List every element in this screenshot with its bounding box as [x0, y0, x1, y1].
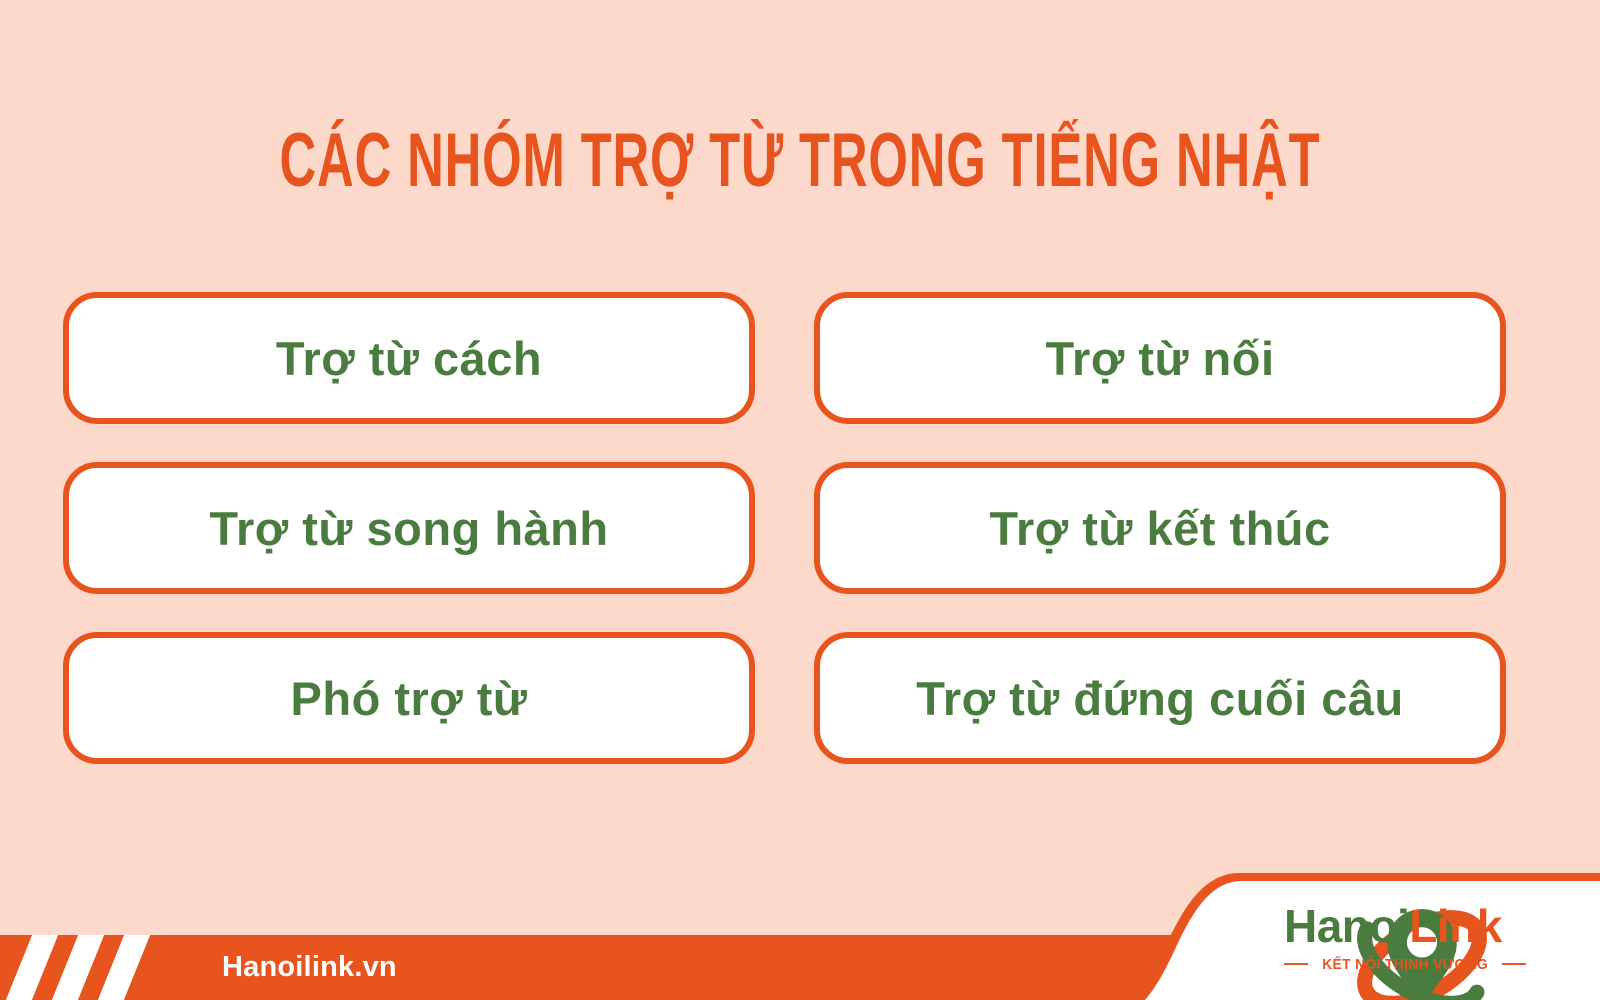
card-label: Phó trợ từ: [291, 675, 528, 722]
dash-left-icon: [1284, 963, 1308, 965]
card-pho-tro-tu[interactable]: Phó trợ từ: [63, 632, 755, 764]
page-title: CÁC NHÓM TRỢ TỪ TRONG TIẾNG NHẬT: [144, 124, 1456, 200]
logo-wordmark: HanoiLink: [1284, 903, 1526, 949]
logo-tagline-row: KẾT NỐI THỊNH VƯỢNG: [1284, 956, 1526, 973]
logo-word-secondary: Link: [1409, 900, 1502, 952]
footer-website-link[interactable]: Hanoilink.vn: [222, 935, 397, 1000]
card-label: Trợ từ nối: [1045, 335, 1274, 382]
orbit-location-pin-icon: [1182, 888, 1278, 984]
logo-tagline: KẾT NỐI THỊNH VƯỢNG: [1322, 956, 1488, 973]
particle-group-grid: Trợ từ cách Trợ từ nối Trợ từ song hành …: [63, 292, 1506, 764]
card-label: Trợ từ cách: [276, 335, 542, 382]
logo-text-block: HanoiLink KẾT NỐI THỊNH VƯỢNG: [1284, 903, 1526, 973]
card-label: Trợ từ kết thúc: [989, 505, 1330, 552]
infographic-canvas: CÁC NHÓM TRỢ TỪ TRONG TIẾNG NHẬT Trợ từ …: [0, 0, 1600, 1000]
logo-word-primary: Hanoi: [1284, 900, 1409, 952]
card-tro-tu-dung-cuoi-cau[interactable]: Trợ từ đứng cuối câu: [814, 632, 1506, 764]
card-tro-tu-cach[interactable]: Trợ từ cách: [63, 292, 755, 424]
card-tro-tu-song-hanh[interactable]: Trợ từ song hành: [63, 462, 755, 594]
card-label: Trợ từ song hành: [209, 505, 608, 552]
logo-panel: HanoiLink KẾT NỐI THỊNH VƯỢNG: [1120, 855, 1600, 1000]
card-tro-tu-ket-thuc[interactable]: Trợ từ kết thúc: [814, 462, 1506, 594]
card-label: Trợ từ đứng cuối câu: [916, 675, 1404, 722]
logo-lockup[interactable]: HanoiLink KẾT NỐI THỊNH VƯỢNG: [1182, 883, 1582, 988]
dash-right-icon: [1502, 963, 1526, 965]
card-tro-tu-noi[interactable]: Trợ từ nối: [814, 292, 1506, 424]
diagonal-stripes-decoration: [0, 935, 150, 1000]
